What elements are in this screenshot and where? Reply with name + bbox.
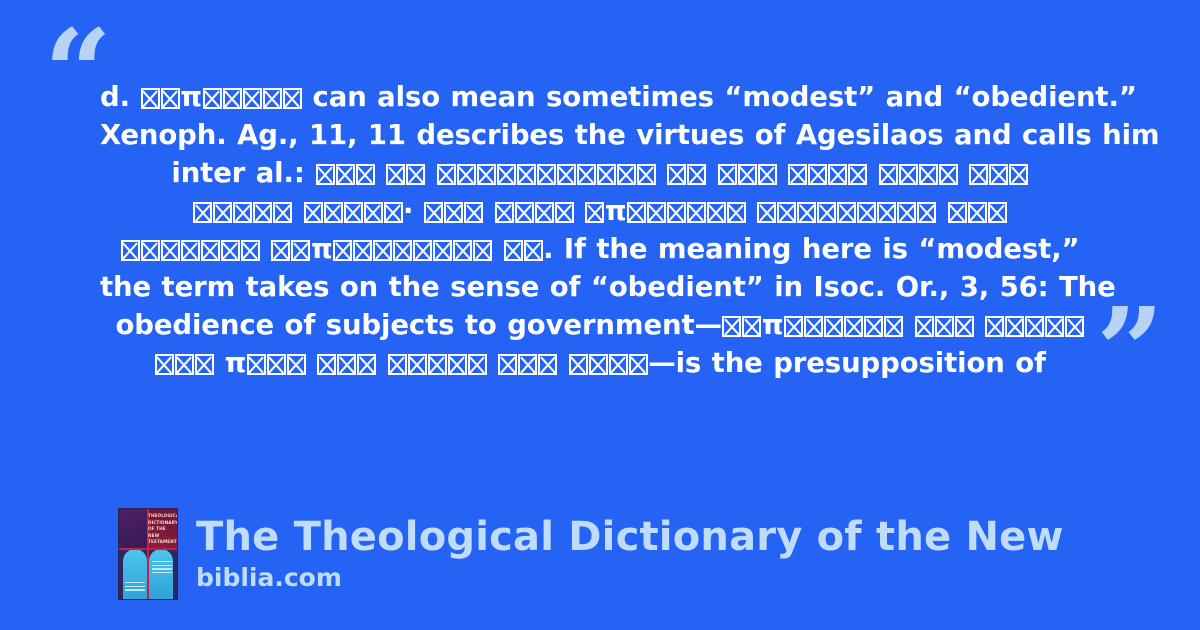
missing-glyph-box <box>757 202 776 223</box>
missing-glyph-box <box>585 202 604 223</box>
greek-pi-glyph: π <box>605 195 627 227</box>
quote-line-2: Xenoph. Ag., 11, 11 describes the virtue… <box>100 116 1100 154</box>
missing-glyph-box <box>213 202 232 223</box>
missing-glyph-box <box>828 164 847 185</box>
quote-text-run: Xenoph. Ag., 11, 11 describes the virtue… <box>100 119 1159 151</box>
missing-glyph-box <box>989 164 1008 185</box>
greek-missing-glyph-run <box>985 309 1085 341</box>
book-cover-title: THEOLOGICALDICTIONARYOF THE NEWTESTAMENT <box>148 513 175 546</box>
missing-glyph-box <box>777 202 796 223</box>
missing-glyph-box <box>273 202 292 223</box>
missing-glyph-box <box>253 202 272 223</box>
missing-glyph-box <box>317 354 336 375</box>
missing-glyph-box <box>181 240 200 261</box>
quote-line-7: obedience of subjects to government—π <box>100 306 1100 344</box>
missing-glyph-box <box>935 316 954 337</box>
missing-glyph-box <box>241 240 260 261</box>
missing-glyph-box <box>758 164 777 185</box>
missing-glyph-box <box>617 164 636 185</box>
missing-glyph-box <box>161 240 180 261</box>
greek-missing-glyph-run <box>193 195 293 227</box>
missing-glyph-box <box>155 354 174 375</box>
greek-missing-glyph-run <box>503 233 543 265</box>
missing-glyph-box <box>857 202 876 223</box>
missing-glyph-box <box>444 202 463 223</box>
missing-glyph-box <box>353 240 372 261</box>
missing-glyph-box <box>468 354 487 375</box>
greek-missing-glyph-run <box>436 157 656 189</box>
book-cover-cross-horizontal <box>119 548 177 551</box>
missing-glyph-box <box>324 202 343 223</box>
missing-glyph-box <box>647 202 666 223</box>
missing-glyph-box <box>687 164 706 185</box>
quote-line-4: · π <box>100 192 1100 230</box>
missing-glyph-box <box>195 354 214 375</box>
greek-missing-glyph-run <box>914 309 974 341</box>
missing-glyph-box <box>413 240 432 261</box>
book-cover-text-lines-right <box>152 561 172 576</box>
greek-missing-glyph-run <box>722 309 762 341</box>
missing-glyph-box <box>917 202 936 223</box>
greek-missing-glyph-run <box>386 157 426 189</box>
missing-glyph-box <box>518 354 537 375</box>
book-cover-title-line: TESTAMENT <box>148 539 175 546</box>
greek-pi-glyph: π <box>180 81 202 113</box>
greek-missing-glyph-run <box>667 157 707 189</box>
missing-glyph-box <box>121 240 140 261</box>
greek-missing-glyph-run <box>498 347 558 379</box>
missing-glyph-box <box>667 164 686 185</box>
missing-glyph-box <box>637 164 656 185</box>
missing-glyph-box <box>243 88 262 109</box>
missing-glyph-box <box>373 240 392 261</box>
missing-glyph-box <box>919 164 938 185</box>
greek-missing-glyph-run <box>387 347 487 379</box>
missing-glyph-box <box>804 316 823 337</box>
book-cover-thumbnail: THEOLOGICALDICTIONARYOF THE NEWTESTAMENT <box>118 508 178 600</box>
missing-glyph-box <box>287 354 306 375</box>
greek-missing-glyph-run <box>969 157 1029 189</box>
quote-line-1: d. π can also mean sometimes “modest” an… <box>100 78 1100 116</box>
greek-missing-glyph-run <box>784 309 904 341</box>
missing-glyph-box <box>386 164 405 185</box>
missing-glyph-box <box>939 164 958 185</box>
greek-missing-glyph-run <box>424 195 484 227</box>
missing-glyph-box <box>524 240 543 261</box>
missing-glyph-box <box>141 88 160 109</box>
greek-missing-glyph-run <box>757 195 937 227</box>
greek-pi-glyph: π <box>311 233 333 265</box>
greek-missing-glyph-run <box>878 157 958 189</box>
missing-glyph-box <box>609 354 628 375</box>
missing-glyph-box <box>817 202 836 223</box>
greek-missing-glyph-run <box>202 81 302 113</box>
missing-glyph-box <box>433 240 452 261</box>
quote-block: d. π can also mean sometimes “modest” an… <box>100 78 1100 382</box>
missing-glyph-box <box>223 88 242 109</box>
missing-glyph-box <box>538 354 557 375</box>
book-cover-top-left-panel <box>119 509 148 549</box>
quote-text-run: . If the meaning here is “modest,” <box>543 233 1079 265</box>
missing-glyph-box <box>175 354 194 375</box>
missing-glyph-box <box>788 164 807 185</box>
missing-glyph-box <box>477 164 496 185</box>
missing-glyph-box <box>517 164 536 185</box>
greek-missing-glyph-run <box>315 157 375 189</box>
missing-glyph-box <box>497 164 516 185</box>
missing-glyph-box <box>437 164 456 185</box>
missing-glyph-box <box>727 202 746 223</box>
quote-line-3: inter al.: <box>100 154 1100 192</box>
book-cover-title-line: THEOLOGICAL <box>148 513 175 520</box>
greek-missing-glyph-run <box>717 157 777 189</box>
missing-glyph-box <box>879 164 898 185</box>
missing-glyph-box <box>627 202 646 223</box>
missing-glyph-box <box>824 316 843 337</box>
missing-glyph-box <box>718 164 737 185</box>
missing-glyph-box <box>356 164 375 185</box>
brand-title: The Theological Dictionary of the New <box>196 514 1064 560</box>
greek-missing-glyph-run <box>585 195 605 227</box>
missing-glyph-box <box>263 88 282 109</box>
greek-missing-glyph-run <box>333 233 493 265</box>
missing-glyph-box <box>221 240 240 261</box>
missing-glyph-box <box>304 202 323 223</box>
missing-glyph-box <box>1005 316 1024 337</box>
missing-glyph-box <box>969 164 988 185</box>
quote-text-run: the term takes on the sense of “obedient… <box>100 271 1116 303</box>
missing-glyph-box <box>722 316 741 337</box>
missing-glyph-box <box>1025 316 1044 337</box>
missing-glyph-box <box>283 88 302 109</box>
missing-glyph-box <box>408 354 427 375</box>
greek-missing-glyph-run <box>120 233 260 265</box>
greek-pi-glyph: π <box>225 347 247 379</box>
missing-glyph-box <box>448 354 467 375</box>
missing-glyph-box <box>1045 316 1064 337</box>
missing-glyph-box <box>877 202 896 223</box>
missing-glyph-box <box>406 164 425 185</box>
missing-glyph-box <box>555 202 574 223</box>
missing-glyph-box <box>597 164 616 185</box>
missing-glyph-box <box>569 354 588 375</box>
quote-text-run: —is the presupposition of <box>648 347 1046 379</box>
missing-glyph-box <box>515 202 534 223</box>
missing-glyph-box <box>884 316 903 337</box>
book-cover-text-lines-left <box>125 582 145 593</box>
quote-text: d. π can also mean sometimes “modest” an… <box>100 78 1100 382</box>
missing-glyph-box <box>784 316 803 337</box>
missing-glyph-box <box>203 88 222 109</box>
quote-line-5: π . If the meaning here is “modest,” <box>100 230 1100 268</box>
missing-glyph-box <box>424 202 443 223</box>
greek-missing-glyph-run <box>317 347 377 379</box>
missing-glyph-box <box>837 202 856 223</box>
missing-glyph-box <box>453 240 472 261</box>
greek-missing-glyph-run <box>154 347 214 379</box>
greek-missing-glyph-run <box>626 195 746 227</box>
missing-glyph-box <box>498 354 517 375</box>
greek-missing-glyph-run <box>271 233 311 265</box>
missing-glyph-box <box>141 240 160 261</box>
close-quote-icon: ” <box>1096 292 1164 410</box>
missing-glyph-box <box>336 164 355 185</box>
missing-glyph-box <box>589 354 608 375</box>
missing-glyph-box <box>291 240 310 261</box>
missing-glyph-box <box>337 354 356 375</box>
greek-missing-glyph-run <box>568 347 648 379</box>
missing-glyph-box <box>968 202 987 223</box>
quote-text-run: · <box>403 195 424 227</box>
quote-line-6: the term takes on the sense of “obedient… <box>100 268 1100 306</box>
greek-pi-glyph: π <box>762 309 784 341</box>
footer-branding: THEOLOGICALDICTIONARYOF THE NEWTESTAMENT… <box>118 508 1064 600</box>
missing-glyph-box <box>201 240 220 261</box>
missing-glyph-box <box>948 202 967 223</box>
missing-glyph-box <box>707 202 726 223</box>
greek-missing-glyph-run <box>140 81 180 113</box>
missing-glyph-box <box>388 354 407 375</box>
missing-glyph-box <box>988 202 1007 223</box>
missing-glyph-box <box>457 164 476 185</box>
missing-glyph-box <box>1009 164 1028 185</box>
greek-missing-glyph-run <box>788 157 868 189</box>
missing-glyph-box <box>687 202 706 223</box>
missing-glyph-box <box>629 354 648 375</box>
missing-glyph-box <box>557 164 576 185</box>
missing-glyph-box <box>955 316 974 337</box>
missing-glyph-box <box>535 202 554 223</box>
quote-card: “ d. π can also mean sometimes “modest” … <box>0 0 1200 630</box>
missing-glyph-box <box>333 240 352 261</box>
missing-glyph-box <box>667 202 686 223</box>
brand-site-url[interactable]: biblia.com <box>196 562 1064 594</box>
missing-glyph-box <box>864 316 883 337</box>
quote-text-run: can also mean sometimes “modest” and “ob… <box>302 81 1137 113</box>
missing-glyph-box <box>464 202 483 223</box>
greek-missing-glyph-run <box>246 347 306 379</box>
missing-glyph-box <box>848 164 867 185</box>
missing-glyph-box <box>537 164 556 185</box>
missing-glyph-box <box>577 164 596 185</box>
greek-missing-glyph-run <box>303 195 403 227</box>
missing-glyph-box <box>897 202 916 223</box>
missing-glyph-box <box>844 316 863 337</box>
book-cover-title-line: OF THE NEW <box>148 526 175 539</box>
missing-glyph-box <box>357 354 376 375</box>
missing-glyph-box <box>899 164 918 185</box>
missing-glyph-box <box>384 202 403 223</box>
missing-glyph-box <box>233 202 252 223</box>
missing-glyph-box <box>495 202 514 223</box>
missing-glyph-box <box>247 354 266 375</box>
greek-missing-glyph-run <box>494 195 574 227</box>
missing-glyph-box <box>742 316 761 337</box>
missing-glyph-box <box>504 240 523 261</box>
quote-text-run: d. <box>100 81 140 113</box>
missing-glyph-box <box>393 240 412 261</box>
quote-text-run: inter al.: <box>171 157 315 189</box>
missing-glyph-box <box>1065 316 1084 337</box>
missing-glyph-box <box>267 354 286 375</box>
missing-glyph-box <box>428 354 447 375</box>
quote-text-run: obedience of subjects to government— <box>115 309 721 341</box>
missing-glyph-box <box>193 202 212 223</box>
greek-missing-glyph-run <box>947 195 1007 227</box>
missing-glyph-box <box>316 164 335 185</box>
quote-line-8: π —is the presupposition of <box>100 344 1100 382</box>
missing-glyph-box <box>738 164 757 185</box>
missing-glyph-box <box>364 202 383 223</box>
brand-text-group: The Theological Dictionary of the New bi… <box>196 514 1064 594</box>
missing-glyph-box <box>985 316 1004 337</box>
missing-glyph-box <box>271 240 290 261</box>
missing-glyph-box <box>344 202 363 223</box>
missing-glyph-box <box>915 316 934 337</box>
missing-glyph-box <box>808 164 827 185</box>
missing-glyph-box <box>797 202 816 223</box>
missing-glyph-box <box>473 240 492 261</box>
missing-glyph-box <box>161 88 180 109</box>
